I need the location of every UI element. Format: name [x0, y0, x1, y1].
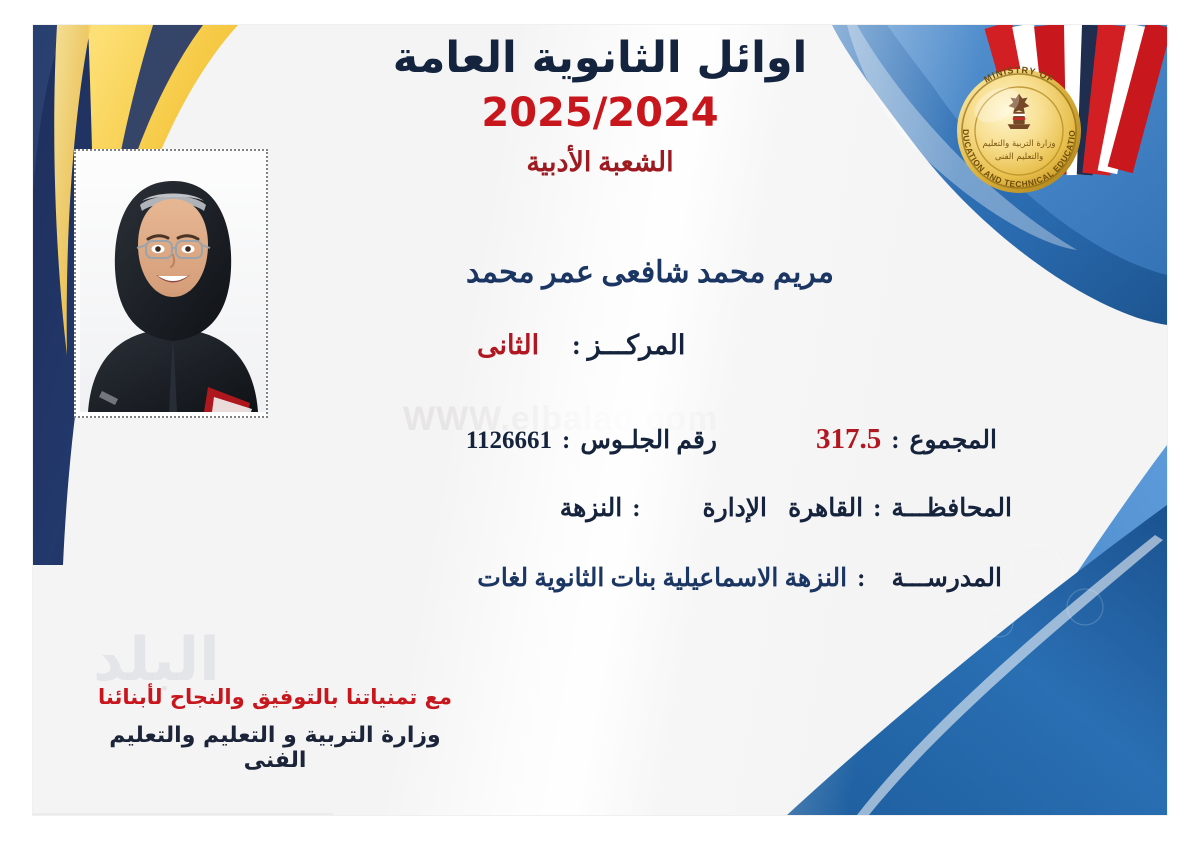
school-separator: : — [847, 565, 891, 593]
info-table: المجموع : 317.5 رقم الجلـوس : 1126661 ال… — [73, 423, 1127, 633]
student-portrait-illustration — [80, 151, 266, 412]
rank-label: المركـــز — [588, 330, 686, 360]
school-label: المدرســـة — [891, 563, 1002, 593]
total-label: المجموع — [910, 425, 997, 455]
info-row-total-seat: المجموع : 317.5 رقم الجلـوس : 1126661 — [73, 423, 1127, 493]
school-value: النزهة الاسماعيلية بنات الثانوية لغات — [477, 563, 847, 593]
academic-year: 2025/2024 — [33, 90, 1167, 136]
page-title: اوائل الثانوية العامة — [33, 33, 1167, 83]
total-field: المجموع : 317.5 — [797, 423, 1127, 456]
administration-separator: : — [622, 495, 702, 523]
administration-value: النزهة — [560, 493, 623, 523]
certificate-content: اوائل الثانوية العامة 2025/2024 الشعبة ا… — [33, 25, 1167, 815]
governorate-field: المحافظـــة : القاهرة — [797, 493, 1127, 523]
governorate-label: المحافظـــة — [891, 493, 1012, 523]
governorate-value: القاهرة — [788, 493, 863, 523]
student-photo — [76, 151, 266, 416]
rank-separator: : — [572, 330, 581, 360]
student-photo-frame — [74, 149, 268, 418]
rank-value: الثانى — [477, 330, 539, 360]
certificate-page: وزارة التربية والتعليم والتعليم الفنى MI… — [0, 0, 1200, 849]
administration-field: الإدارة : النزهة — [367, 493, 797, 523]
seat-number-label: رقم الجلـوس — [580, 425, 717, 455]
governorate-separator: : — [863, 495, 891, 523]
seat-number-separator: : — [552, 427, 580, 455]
rank-row: المركـــز : الثانى — [477, 330, 997, 361]
certificate-card: وزارة التربية والتعليم والتعليم الفنى MI… — [33, 25, 1167, 815]
footer-wish: مع تمنياتنا بالتوفيق والنجاح لأبنائنا — [75, 685, 475, 709]
total-separator: : — [881, 427, 909, 455]
school-field: المدرســـة : النزهة الاسماعيلية بنات الث… — [73, 563, 1127, 593]
total-value: 317.5 — [816, 423, 881, 456]
info-row-governorate-admin: المحافظـــة : القاهرة الإدارة : النزهة — [73, 493, 1127, 563]
seat-number-field: رقم الجلـوس : 1126661 — [367, 425, 797, 455]
seat-number-value: 1126661 — [466, 427, 552, 455]
footer: مع تمنياتنا بالتوفيق والنجاح لأبنائنا وز… — [75, 685, 475, 773]
student-name: مريم محمد شافعى عمر محمد — [283, 255, 1017, 290]
info-row-school: المدرســـة : النزهة الاسماعيلية بنات الث… — [73, 563, 1127, 633]
administration-label: الإدارة — [703, 493, 767, 523]
footer-ministry: وزارة التربية و التعليم والتعليم الفنى — [75, 723, 475, 773]
